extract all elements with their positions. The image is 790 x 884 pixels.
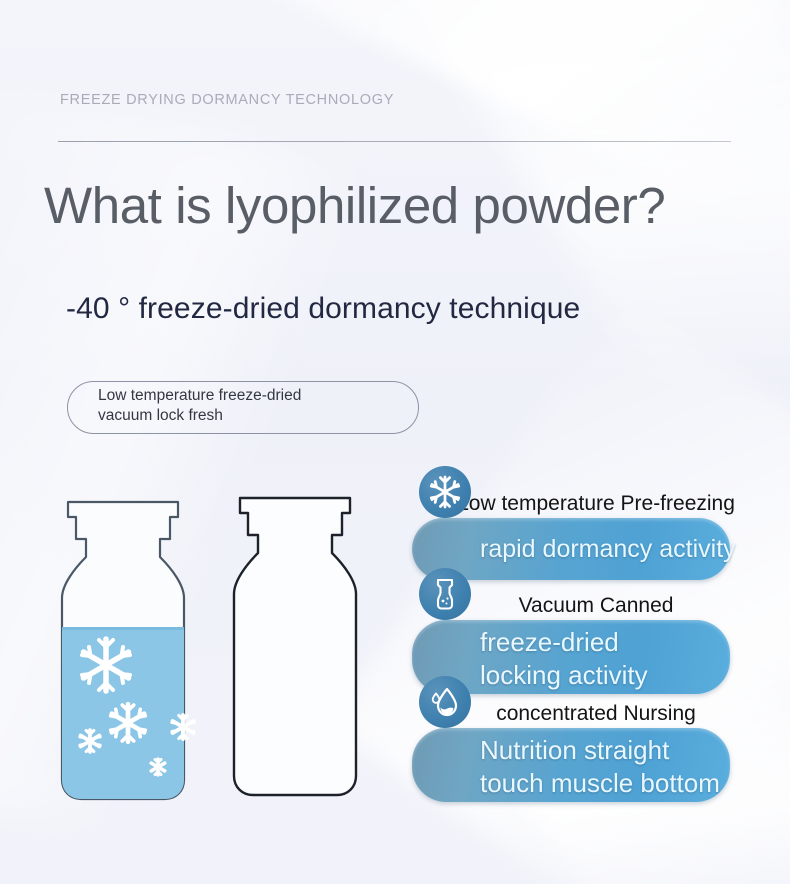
feature-text-line: freeze-dried [480,626,648,659]
feature-text: freeze-dried locking activity [480,626,648,692]
feature-text-line: rapid dormancy activity [480,534,736,564]
snowflake-glyph [428,475,462,509]
page-subtitle: -40 ° freeze-dried dormancy technique [66,292,580,326]
vial-illustration [50,495,410,825]
feature-text-line: locking activity [480,659,648,692]
callout-line-2: vacuum lock fresh [98,406,428,426]
poster-canvas: FREEZE DRYING DORMANCY TECHNOLOGY What i… [0,0,790,884]
snowflake-icon [419,466,471,518]
vial-glyph [429,577,461,611]
droplet-glyph [428,685,462,719]
feature-text-line: Nutrition straight [480,734,720,767]
eyebrow-text: FREEZE DRYING DORMANCY TECHNOLOGY [60,92,394,108]
right-vial [234,498,356,795]
feature-text: Nutrition straight touch muscle bottom [480,734,720,800]
left-vial [58,502,194,807]
feature-text-line: touch muscle bottom [480,767,720,800]
callout-text: Low temperature freeze-dried vacuum lock… [98,386,428,426]
feature-text: rapid dormancy activity [480,534,736,564]
callout-line-1: Low temperature freeze-dried [98,386,428,406]
page-title: What is lyophilized powder? [44,176,665,235]
header-divider [58,141,731,142]
droplet-icon [419,676,471,728]
vial-illustration-svg [50,495,410,825]
vial-icon [419,568,471,620]
feature-list: Low temperature Pre-freezing [410,492,790,822]
